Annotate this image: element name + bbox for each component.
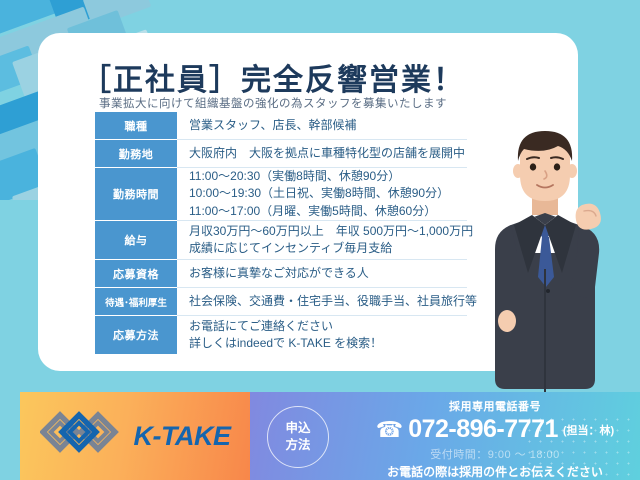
row-value: お電話にてご連絡ください 詳しくはindeedで K-TAKE を検索！: [177, 316, 467, 355]
row-label: 職種: [95, 112, 177, 140]
value-line: 11:00〜17:00（月曜、実働5時間、休憩60分）: [189, 203, 467, 220]
row-label: 勤務時間: [95, 168, 177, 221]
page-subtitle: 事業拡大に向けて組織基盤の強化の為スタッフを募集いたします: [38, 95, 508, 111]
value-line: 11:00〜20:30（実働8時間、休憩90分）: [189, 168, 467, 185]
row-value: 営業スタッフ、店長、幹部候補: [177, 112, 467, 140]
row-label: 応募方法: [95, 316, 177, 355]
k-take-logo-icon: [40, 408, 128, 464]
telephone-icon: ☎: [376, 419, 403, 441]
row-value: 月収30万円〜60万円以上 年収 500万円〜1,000万円 成績に応じてインセ…: [177, 221, 467, 260]
badge-line-2: 方法: [285, 437, 310, 454]
company-logo: K-TAKE: [40, 408, 231, 464]
table-row: 職種 営業スタッフ、店長、幹部候補: [95, 112, 467, 140]
job-details-table: 職種 営業スタッフ、店長、幹部候補 勤務地 大阪府内 大阪を拠点に車種特化型の店…: [95, 112, 467, 354]
businessman-illustration: [470, 119, 620, 409]
value-line: 詳しくはindeedで K-TAKE を検索！: [189, 335, 467, 352]
row-value: 大阪府内 大阪を拠点に車種特化型の店舗を展開中: [177, 140, 467, 168]
table-row: 給与 月収30万円〜60万円以上 年収 500万円〜1,000万円 成績に応じて…: [95, 221, 467, 260]
value-line: お電話にてご連絡ください: [189, 318, 467, 335]
row-label: 応募資格: [95, 260, 177, 288]
table-row: 勤務地 大阪府内 大阪を拠点に車種特化型の店舗を展開中: [95, 140, 467, 168]
row-label: 待遇･福利厚生: [95, 288, 177, 316]
row-value: 社会保険、交通費・住宅手当、役職手当、社員旅行等: [177, 288, 467, 316]
row-value: 11:00〜20:30（実働8時間、休憩90分） 10:00〜19:30（土日祝…: [177, 168, 467, 221]
footer-logo-panel: K-TAKE: [20, 392, 250, 480]
value-line: お客様に真摯なご対応ができる人: [189, 265, 467, 282]
row-label: 給与: [95, 221, 177, 260]
value-line: 月収30万円〜60万円以上 年収 500万円〜1,000万円: [189, 223, 467, 240]
value-line: 大阪府内 大阪を拠点に車種特化型の店舗を展開中: [189, 145, 467, 162]
footer-contact-panel: 申込 方法 採用専用電話番号 ☎ 072-896-7771 (担当：林) 受付時…: [250, 392, 640, 480]
recruitment-poster: RECRUITING! ［正社員］完全反響営業！ 事業拡大に向けて組織基盤の強化…: [0, 0, 640, 480]
footer-bar: K-TAKE 申込 方法 採用専用電話番号 ☎ 072-896-7771 (担当…: [20, 392, 640, 480]
badge-line-1: 申込: [285, 420, 310, 437]
main-card: ［正社員］完全反響営業！ 事業拡大に向けて組織基盤の強化の為スタッフを募集いたし…: [38, 33, 578, 371]
logo-wordmark: K-TAKE: [134, 421, 231, 452]
value-line: 営業スタッフ、店長、幹部候補: [189, 117, 467, 134]
table-row: 応募方法 お電話にてご連絡ください 詳しくはindeedで K-TAKE を検索…: [95, 316, 467, 355]
application-method-badge: 申込 方法: [267, 406, 329, 468]
phone-label: 採用専用電話番号: [345, 398, 640, 414]
table-row: 勤務時間 11:00〜20:30（実働8時間、休憩90分） 10:00〜19:3…: [95, 168, 467, 221]
value-line: 成績に応じてインセンティブ毎月支給: [189, 240, 467, 257]
page-title: ［正社員］完全反響営業！: [38, 55, 508, 99]
dot-pattern-decoration: [524, 414, 634, 476]
row-value: お客様に真摯なご対応ができる人: [177, 260, 467, 288]
value-line: 10:00〜19:30（土日祝、実働8時間、休憩90分）: [189, 185, 467, 202]
value-line: 社会保険、交通費・住宅手当、役職手当、社員旅行等: [189, 293, 467, 310]
row-label: 勤務地: [95, 140, 177, 168]
table-row: 応募資格 お客様に真摯なご対応ができる人: [95, 260, 467, 288]
table-row: 待遇･福利厚生 社会保険、交通費・住宅手当、役職手当、社員旅行等: [95, 288, 467, 316]
